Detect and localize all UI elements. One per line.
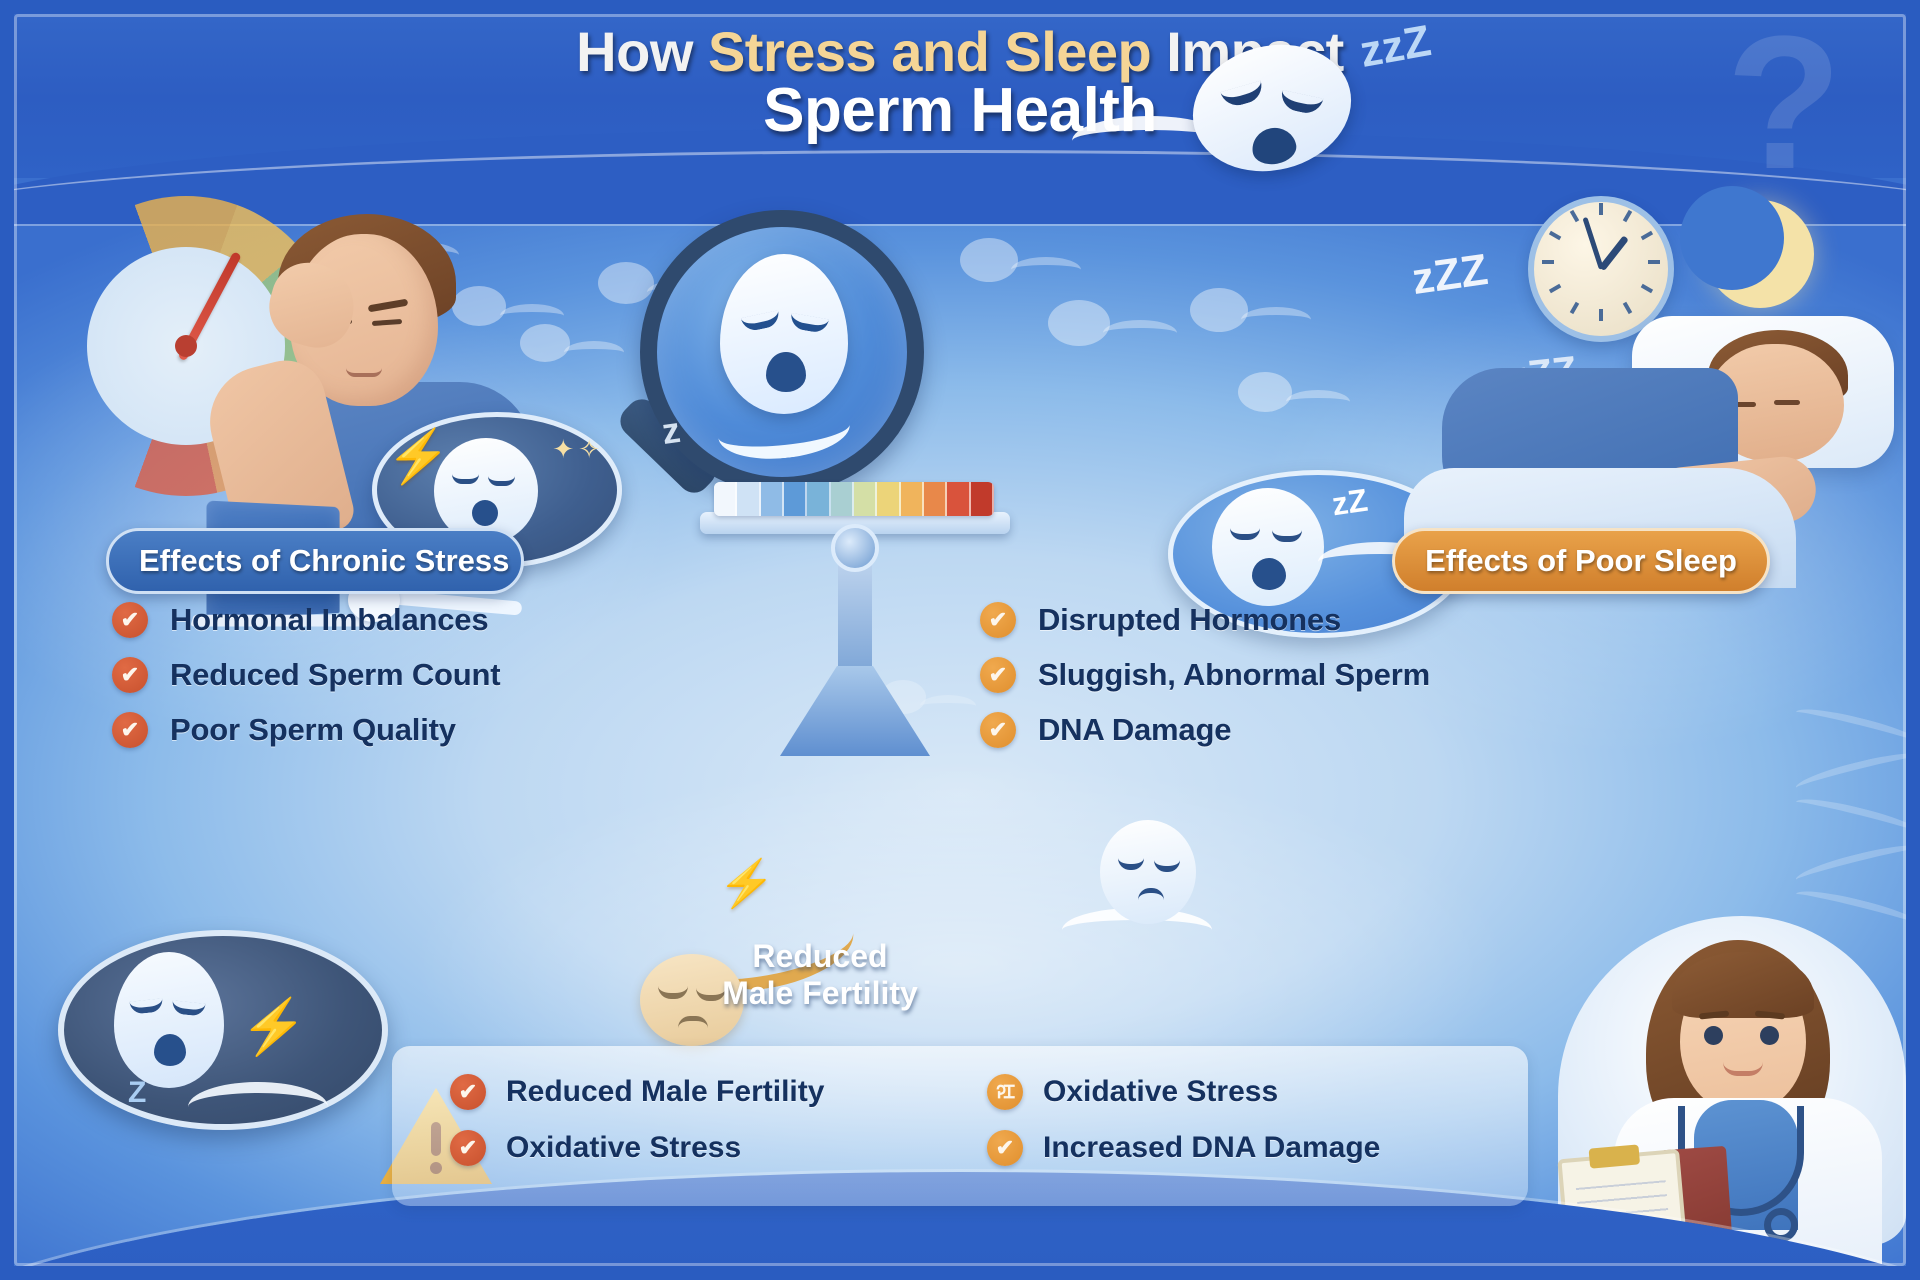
sleep-bullet-list: ✔ Disrupted Hormones ✔ Sluggish, Abnorma… (980, 592, 1430, 757)
tired-sperm-bubble: Z ⚡ (58, 930, 388, 1130)
summary-panel: ✔ Reduced Male Fertility ✔ Oxidative Str… (392, 1046, 1528, 1206)
list-item-label: Disrupted Hormones (1038, 602, 1341, 638)
check-circle-icon: ✔ (980, 602, 1016, 638)
sad-sperm-illustration (1066, 820, 1256, 950)
summary-left-column: ✔ Reduced Male Fertility ✔ Oxidative Str… (450, 1064, 947, 1206)
balance-scale-icon (700, 470, 1010, 800)
check-circle-icon: ✔ (450, 1130, 486, 1166)
bolt-icon: ⚡ (718, 856, 775, 911)
list-item-label: Oxidative Stress (506, 1131, 741, 1165)
list-item: ✔ Oxidative Stress (450, 1120, 947, 1176)
check-circle-icon: ✔ (980, 657, 1016, 693)
center-caption: Reduced Male Fertility (640, 938, 1000, 1012)
sperm-silhouette (960, 238, 1018, 282)
bolt-icon: ⚡ (240, 996, 307, 1059)
title-line2: Sperm Health (0, 78, 1920, 143)
list-item-label: Oxidative Stress (1043, 1075, 1278, 1109)
center-caption-line2: Male Fertility (640, 975, 1000, 1012)
zzz-glyph: zZZ (1409, 245, 1491, 305)
list-item: ᎮᏆ Oxidative Stress (987, 1064, 1484, 1120)
center-caption-line1: Reduced (640, 938, 1000, 975)
z-glyph: Z (128, 1076, 146, 1110)
list-item: ✔ Reduced Male Fertility (450, 1064, 947, 1120)
banner-poor-sleep: Effects of Poor Sleep (1392, 528, 1770, 594)
list-item-label: Reduced Sperm Count (170, 657, 500, 693)
stress-bullet-list: ✔ Hormonal Imbalances ✔ Reduced Sperm Co… (112, 592, 500, 757)
banner-chronic-stress: Effects of Chronic Stress (106, 528, 524, 594)
sperm-silhouette (1190, 288, 1248, 332)
sperm-silhouette (1048, 300, 1110, 346)
sperm-silhouette (1238, 372, 1292, 412)
check-circle-icon: ✔ (980, 712, 1016, 748)
infographic-poster: ? How Stress and Sleep Impact Sperm Heal… (0, 0, 1920, 1280)
title-line1-pre: How (576, 20, 708, 83)
list-item-label: Poor Sperm Quality (170, 712, 456, 748)
list-item: ✔ Hormonal Imbalances (112, 592, 500, 647)
zzz-glyph: zZ (1330, 482, 1370, 524)
page-title: How Stress and Sleep Impact Sperm Health (0, 22, 1920, 144)
list-item-label: Increased DNA Damage (1043, 1131, 1380, 1165)
list-item-label: Sluggish, Abnormal Sperm (1038, 657, 1430, 693)
stars-icon: ✦✧ (552, 434, 604, 465)
list-item: ✔ Increased DNA Damage (987, 1120, 1484, 1176)
list-item: ✔ Reduced Sperm Count (112, 647, 500, 702)
check-circle-icon: ✔ (112, 657, 148, 693)
glitched-check-icon: ᎮᏆ (987, 1074, 1023, 1110)
check-circle-icon: ✔ (112, 712, 148, 748)
list-item: ✔ DNA Damage (980, 702, 1430, 757)
list-item: ✔ Poor Sperm Quality (112, 702, 500, 757)
check-circle-icon: ✔ (450, 1074, 486, 1110)
check-circle-icon: ✔ (987, 1130, 1023, 1166)
crescent-moon-icon (1706, 200, 1814, 308)
check-circle-icon: ✔ (112, 602, 148, 638)
list-item: ✔ Sluggish, Abnormal Sperm (980, 647, 1430, 702)
list-item-label: Reduced Male Fertility (506, 1075, 824, 1109)
title-line1-accent: Stress and Sleep (708, 20, 1151, 83)
list-item-label: Hormonal Imbalances (170, 602, 488, 638)
severity-gradient-bar (714, 482, 994, 516)
summary-right-column: ᎮᏆ Oxidative Stress ✔ Increased DNA Dama… (987, 1064, 1484, 1206)
list-item: ✔ Disrupted Hormones (980, 592, 1430, 647)
list-item-label: DNA Damage (1038, 712, 1231, 748)
